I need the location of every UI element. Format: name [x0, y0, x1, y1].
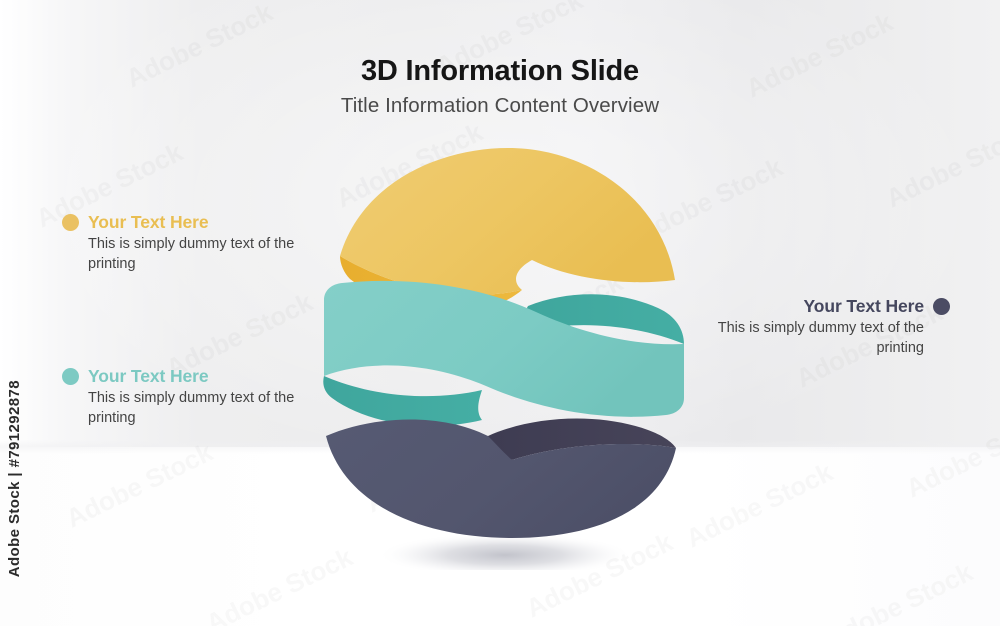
- slide-canvas: Adobe StockAdobe StockAdobe StockAdobe S…: [0, 0, 1000, 626]
- bullet-dot-icon: [933, 298, 950, 315]
- callout-teal-head: Your Text Here: [62, 366, 322, 387]
- callout-yellow-body: This is simply dummy text of the printin…: [88, 235, 303, 275]
- callout-yellow[interactable]: Your Text Here This is simply dummy text…: [62, 212, 322, 275]
- callout-navy-title: Your Text Here: [804, 296, 925, 317]
- segment-middle-teal: [323, 281, 684, 426]
- callout-teal-title: Your Text Here: [88, 366, 209, 387]
- bullet-dot-icon: [62, 368, 79, 385]
- drop-shadow-ellipse: [377, 533, 633, 570]
- header: 3D Information Slide Title Information C…: [0, 56, 1000, 118]
- infographic-graphic: [300, 140, 710, 570]
- teal-back-lower-left: [323, 376, 482, 426]
- segment-bottom-navy: [326, 419, 676, 538]
- page-title: 3D Information Slide: [0, 56, 1000, 88]
- callout-teal-body: This is simply dummy text of the printin…: [88, 389, 303, 429]
- callout-navy-head: Your Text Here: [690, 296, 950, 317]
- callout-navy[interactable]: Your Text Here This is simply dummy text…: [690, 296, 950, 359]
- stock-watermark-label: Adobe Stock | #791292878: [6, 380, 23, 577]
- bullet-dot-icon: [62, 214, 79, 231]
- page-subtitle: Title Information Content Overview: [0, 94, 1000, 118]
- callout-teal[interactable]: Your Text Here This is simply dummy text…: [62, 366, 322, 429]
- callout-navy-body: This is simply dummy text of the printin…: [709, 319, 924, 359]
- yellow-front-dome: [340, 148, 675, 295]
- callout-yellow-title: Your Text Here: [88, 212, 209, 233]
- callout-yellow-head: Your Text Here: [62, 212, 322, 233]
